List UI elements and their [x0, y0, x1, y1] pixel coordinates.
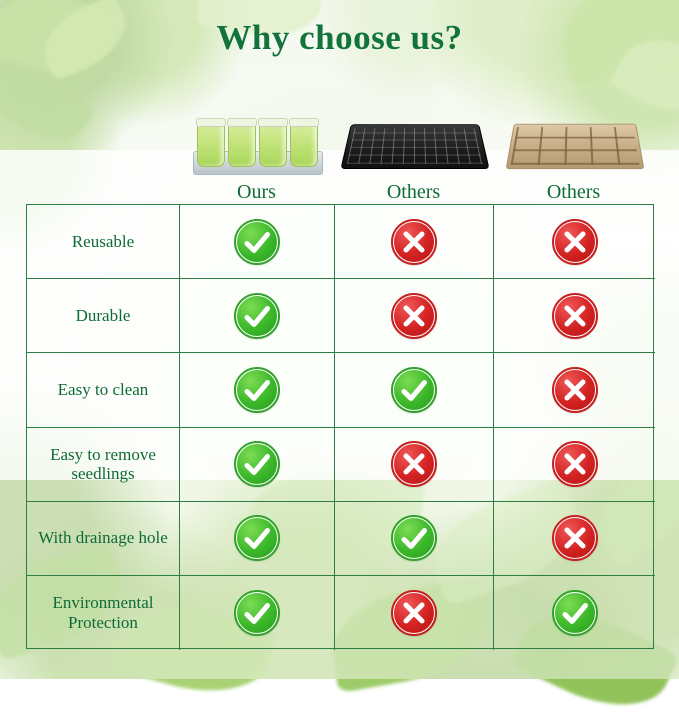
- check-icon: [235, 442, 279, 486]
- comparison-cell: [494, 353, 655, 426]
- cross-icon: [553, 368, 597, 412]
- comparison-cell: [335, 428, 494, 501]
- comparison-cell: [494, 428, 655, 501]
- check-icon: [235, 220, 279, 264]
- feature-label: Easy to remove seedlings: [27, 428, 180, 501]
- table-row: With drainage hole: [27, 502, 655, 576]
- header-column-ours: Ours: [179, 82, 334, 204]
- check-icon: [235, 368, 279, 412]
- check-icon: [553, 591, 597, 635]
- black-plastic-cell-tray-image: [344, 99, 484, 177]
- cross-icon: [553, 220, 597, 264]
- comparison-cell: [494, 576, 655, 650]
- comparison-cell: [180, 576, 335, 650]
- peat-pot-tray-image: [504, 99, 644, 177]
- comparison-cell: [335, 576, 494, 650]
- comparison-table: ReusableDurableEasy to cleanEasy to remo…: [26, 204, 654, 649]
- header-label-others-2: Others: [547, 181, 600, 204]
- cross-icon: [392, 294, 436, 338]
- page-title: Why choose us?: [0, 18, 679, 58]
- feature-label: With drainage hole: [27, 502, 180, 575]
- comparison-cell: [180, 502, 335, 575]
- header-products-row: Ours Others Others: [26, 82, 654, 204]
- comparison-cell: [180, 353, 335, 426]
- comparison-cell: [494, 502, 655, 575]
- cross-icon: [553, 294, 597, 338]
- cross-icon: [392, 220, 436, 264]
- check-icon: [392, 368, 436, 412]
- plastic-seedling-cup-tray-image: [187, 99, 327, 177]
- comparison-cell: [180, 428, 335, 501]
- table-row: Durable: [27, 279, 655, 353]
- check-icon: [235, 516, 279, 560]
- cross-icon: [553, 442, 597, 486]
- check-icon: [235, 591, 279, 635]
- comparison-cell: [494, 205, 655, 278]
- table-row: Easy to remove seedlings: [27, 428, 655, 502]
- cross-icon: [392, 442, 436, 486]
- header-label-ours: Ours: [237, 181, 276, 204]
- check-icon: [235, 294, 279, 338]
- table-row: Easy to clean: [27, 353, 655, 427]
- header-column-others-1: Others: [334, 82, 493, 204]
- comparison-cell: [335, 502, 494, 575]
- feature-label: Easy to clean: [27, 353, 180, 426]
- comparison-cell: [494, 279, 655, 352]
- feature-label: Environmental Protection: [27, 576, 180, 650]
- check-icon: [392, 516, 436, 560]
- table-row: Reusable: [27, 205, 655, 279]
- comparison-cell: [335, 353, 494, 426]
- header-column-others-2: Others: [493, 82, 654, 204]
- cross-icon: [553, 516, 597, 560]
- comparison-cell: [180, 205, 335, 278]
- feature-label: Durable: [27, 279, 180, 352]
- cross-icon: [392, 591, 436, 635]
- table-row: Environmental Protection: [27, 576, 655, 650]
- comparison-cell: [335, 205, 494, 278]
- header-label-others-1: Others: [387, 181, 440, 204]
- feature-label: Reusable: [27, 205, 180, 278]
- comparison-cell: [180, 279, 335, 352]
- comparison-cell: [335, 279, 494, 352]
